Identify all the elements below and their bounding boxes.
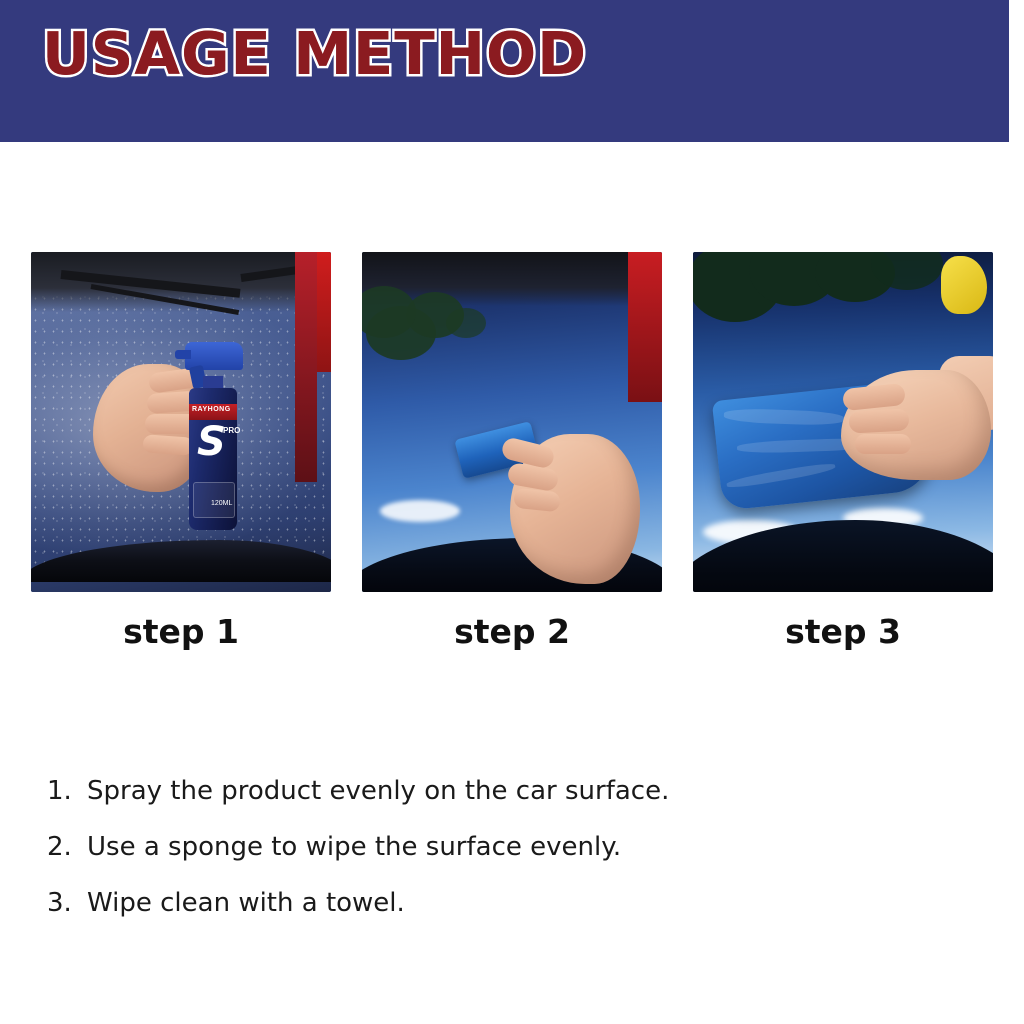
spray-bottle: RAYHONG S PRO 120ML <box>183 330 245 530</box>
steps-row: RAYHONG S PRO 120ML step 1 <box>31 252 993 651</box>
towel-fold <box>726 461 836 490</box>
car-red-body-edge-2 <box>628 252 662 402</box>
tree-reflection-group <box>362 282 662 372</box>
cloud <box>380 500 460 522</box>
step-2-label: step 2 <box>362 612 662 651</box>
instructions-list: 1.Spray the product evenly on the car su… <box>47 778 947 946</box>
finger-2 <box>848 408 909 433</box>
step-2-photo <box>362 252 662 592</box>
instruction-text-2: Use a sponge to wipe the surface evenly. <box>87 832 621 862</box>
instruction-item-2: 2.Use a sponge to wipe the surface evenl… <box>47 834 947 860</box>
bottle-volume-text: 120ML <box>211 500 232 507</box>
right-white-strip <box>1009 0 1024 142</box>
bottle-logo-letter: S <box>197 422 226 462</box>
bottle-brand-text: RAYHONG <box>192 406 231 413</box>
instruction-text-1: Spray the product evenly on the car surf… <box>87 776 669 806</box>
step-1-photo: RAYHONG S PRO 120ML <box>31 252 331 592</box>
bottle-sub-text: PRO <box>223 426 240 435</box>
step-3-label: step 3 <box>693 612 993 651</box>
step-3: step 3 <box>693 252 993 651</box>
instruction-number-2: 2. <box>47 834 87 860</box>
step-1: RAYHONG S PRO 120ML step 1 <box>31 252 331 651</box>
tree-blob <box>446 308 486 338</box>
instruction-item-3: 3.Wipe clean with a towel. <box>47 890 947 916</box>
usage-method-page: USAGE METHOD USAGE METHOD <box>0 0 1024 1024</box>
step-3-photo <box>693 252 993 592</box>
instruction-number-3: 3. <box>47 890 87 916</box>
step-2: step 2 <box>362 252 662 651</box>
towel-fold <box>724 408 844 426</box>
page-title: USAGE METHOD <box>42 24 587 83</box>
finger-3 <box>855 434 911 454</box>
bottle-nozzle <box>175 350 191 359</box>
instruction-number-1: 1. <box>47 778 87 804</box>
instruction-text-3: Wipe clean with a towel. <box>87 888 405 918</box>
header-banner: USAGE METHOD USAGE METHOD <box>0 0 1009 142</box>
instruction-item-1: 1.Spray the product evenly on the car su… <box>47 778 947 804</box>
step-1-label: step 1 <box>31 612 331 651</box>
car-red-pillar <box>295 252 317 482</box>
